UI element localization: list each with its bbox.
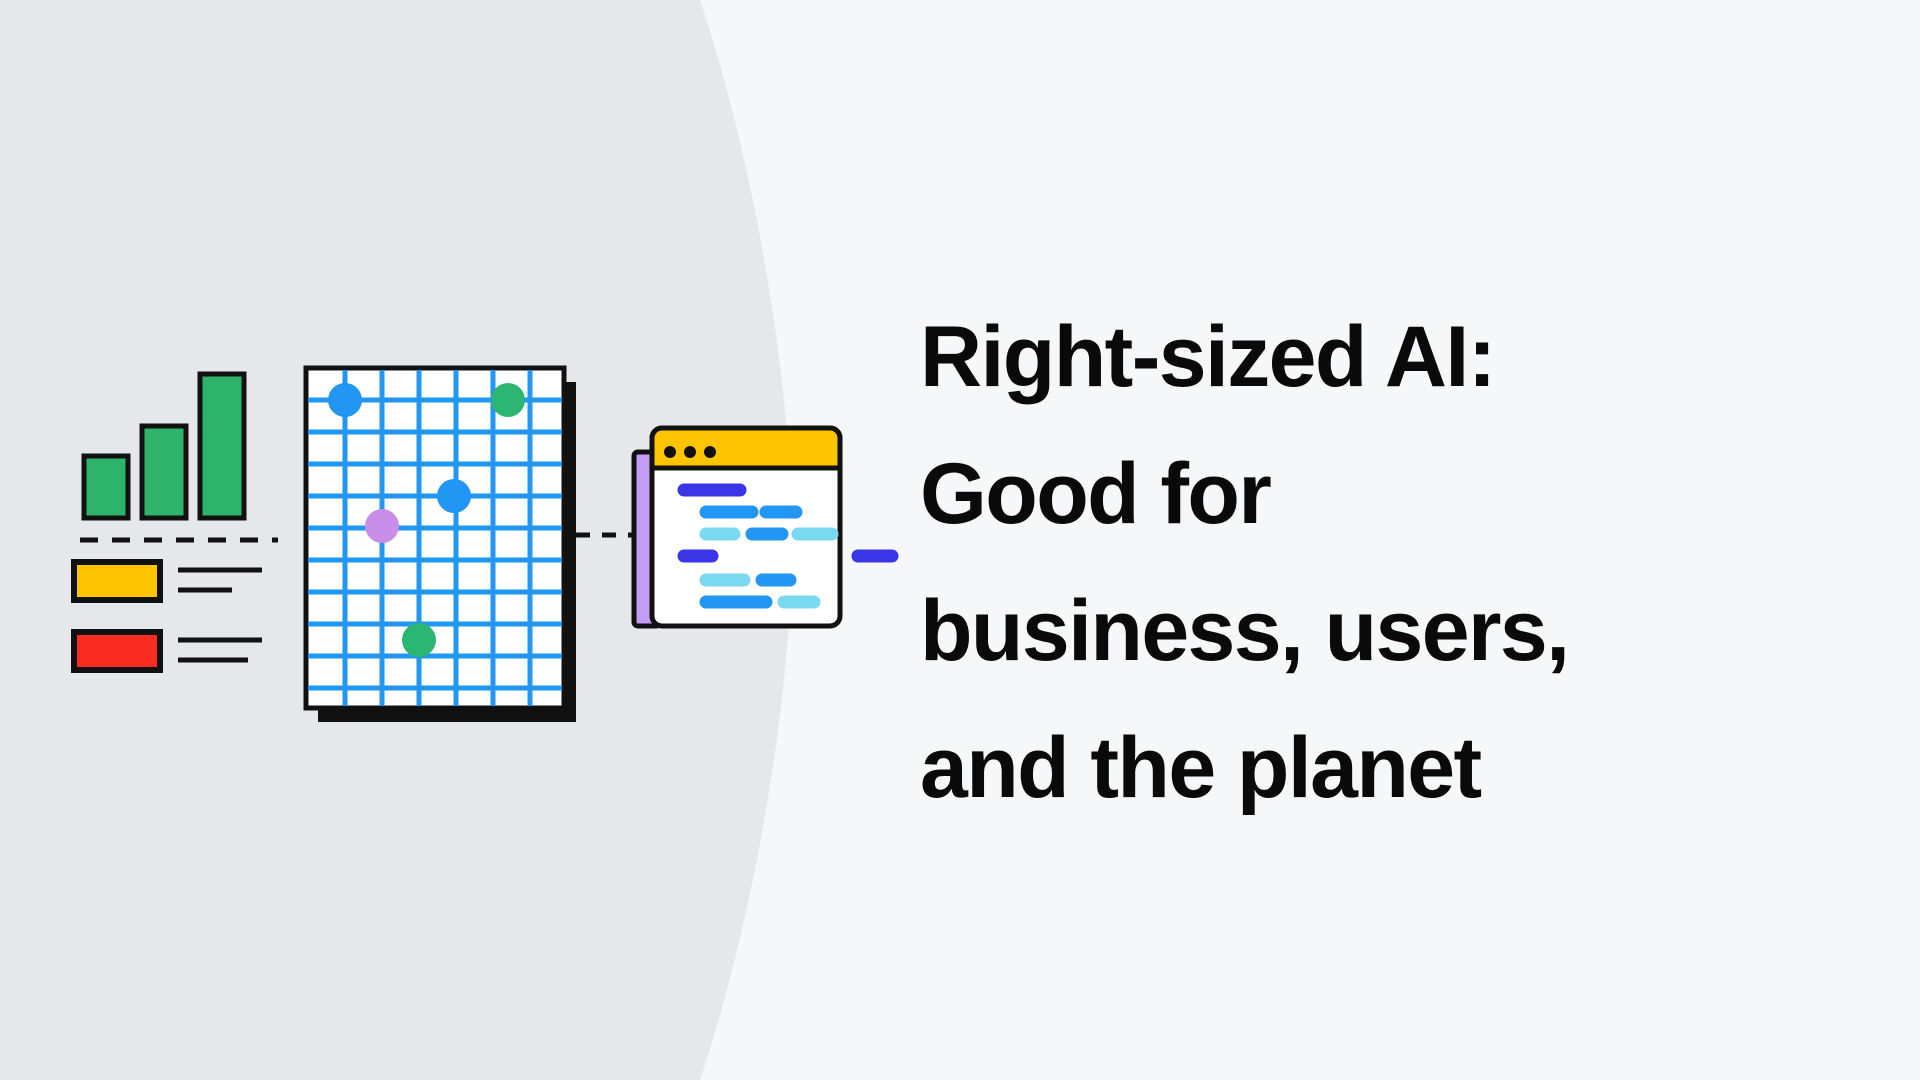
bar-large (200, 374, 244, 518)
point-green-top-right (491, 383, 525, 417)
legend-item-red (74, 632, 262, 670)
scatter-grid (306, 368, 576, 722)
point-blue-center (437, 479, 471, 513)
growth-bars (84, 374, 244, 518)
illustration-group (0, 0, 900, 1080)
headline-line-2: Good for (920, 426, 1820, 563)
legend-swatch-yellow (74, 562, 160, 600)
bar-small (84, 456, 128, 518)
legend-item-yellow (74, 562, 262, 600)
point-blue-top-left (328, 383, 362, 417)
window-dot-1[interactable] (664, 446, 676, 458)
page-title: Right-sized AI: Good for business, users… (920, 289, 1820, 837)
point-green-bottom (402, 623, 436, 657)
headline-line-4: and the planet (920, 700, 1820, 837)
headline-line-1: Right-sized AI: (920, 289, 1820, 426)
legend-swatch-red (74, 632, 160, 670)
hero-banner: Right-sized AI: Good for business, users… (0, 0, 1920, 1080)
window-dot-2[interactable] (684, 446, 696, 458)
code-window (634, 428, 892, 626)
window-titlebar (652, 428, 840, 468)
headline-line-3: business, users, (920, 563, 1820, 700)
window-dot-3[interactable] (704, 446, 716, 458)
bar-medium (142, 426, 186, 518)
point-purple-center (365, 509, 399, 543)
